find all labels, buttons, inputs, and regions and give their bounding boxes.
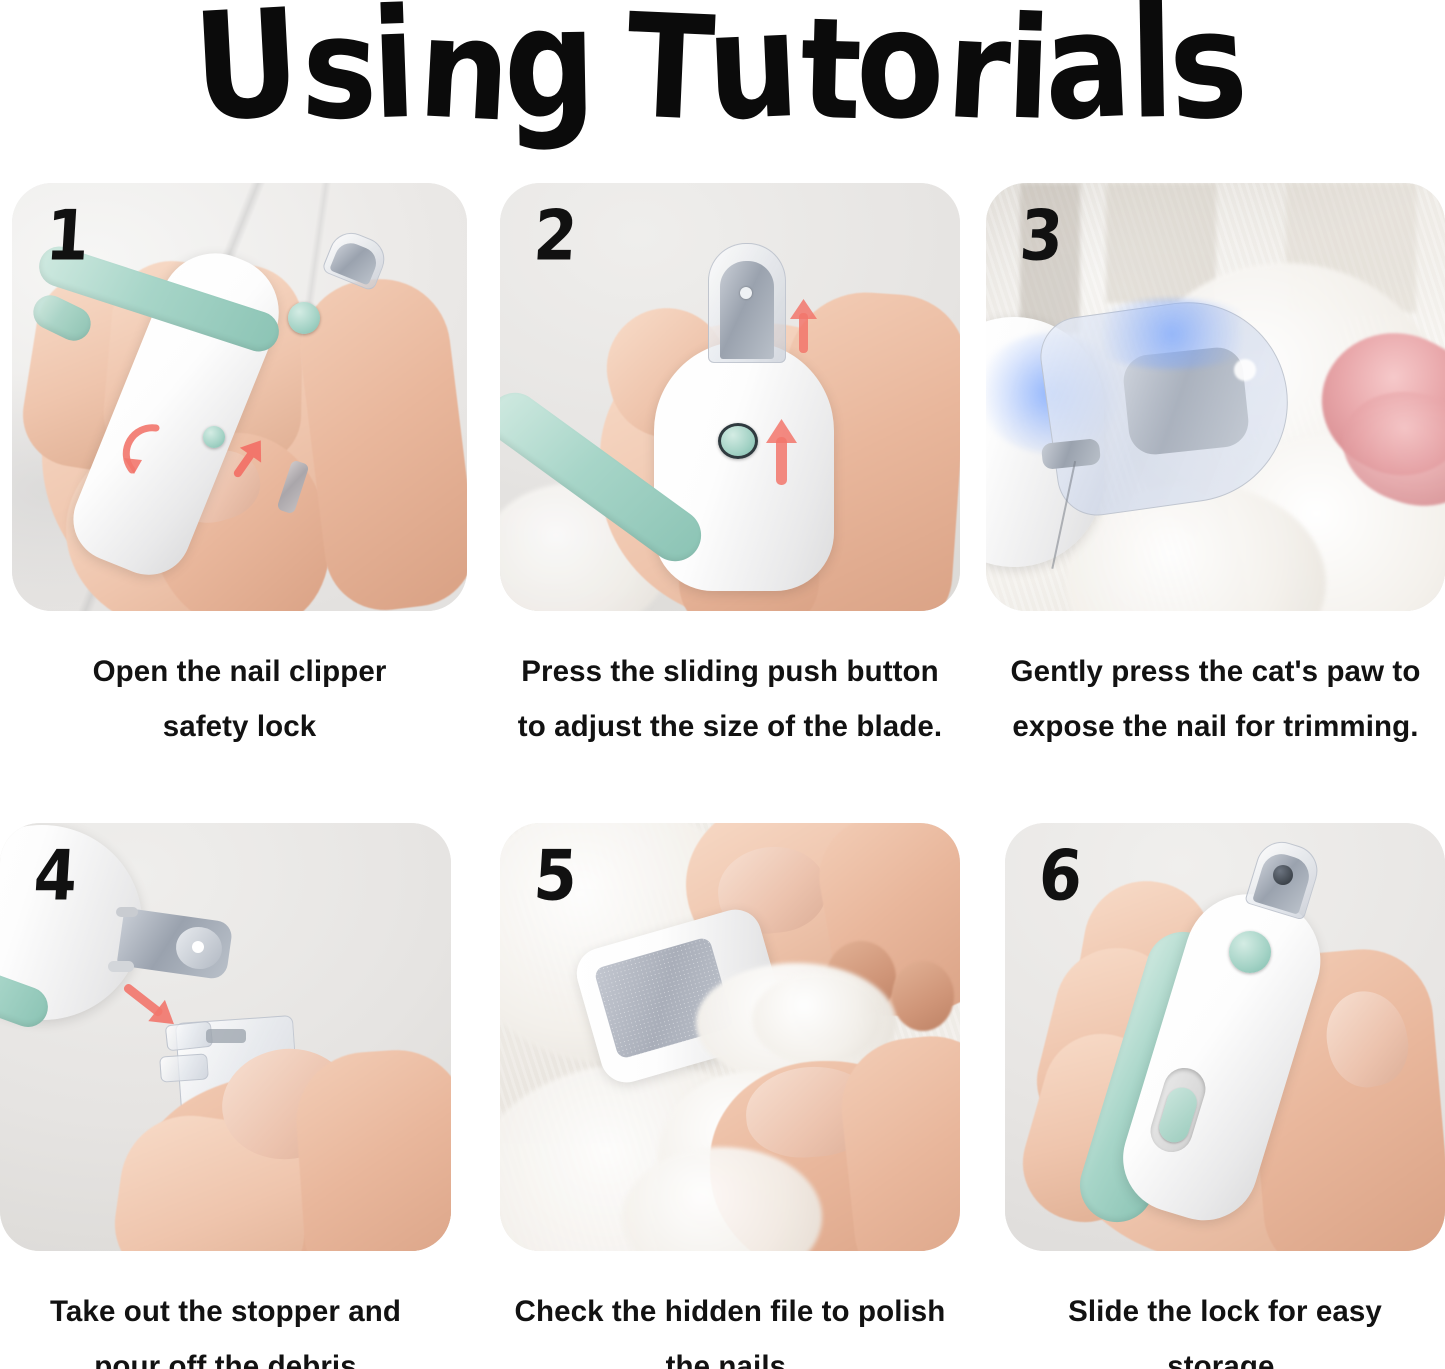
step-image-3: 3 bbox=[986, 183, 1445, 611]
step-image-5: 5 bbox=[500, 823, 960, 1251]
title-letter: t bbox=[798, 0, 861, 141]
title-letter: n bbox=[415, 0, 511, 142]
page-title-text: U s i n g T u t o r i a l s bbox=[198, 11, 1248, 139]
step-number: 3 bbox=[1018, 201, 1065, 270]
caption-line: safety lock bbox=[12, 700, 467, 755]
step-caption-1: Open the nail clipper safety lock bbox=[12, 645, 467, 754]
caption-line: Check the hidden file to polish bbox=[500, 1285, 960, 1340]
caption-line: Open the nail clipper bbox=[12, 645, 467, 700]
caption-line: Take out the stopper and bbox=[0, 1285, 451, 1340]
step-image-2: 2 bbox=[500, 183, 960, 611]
page-title: U s i n g T u t o r i a l s bbox=[0, 0, 1445, 150]
step-number: 4 bbox=[32, 841, 79, 910]
caption-line: to adjust the size of the blade. bbox=[500, 700, 960, 755]
step-card-4: 4 Take out the stopper and pour off the … bbox=[0, 823, 451, 1369]
caption-line: expose the nail for trimming. bbox=[986, 700, 1445, 755]
caption-line: the nails. bbox=[500, 1340, 960, 1369]
step-card-2: 2 Press the sliding push button to adjus… bbox=[500, 183, 960, 754]
title-letter: i bbox=[369, 0, 416, 142]
step-card-5: 5 Check the hidden file to polish the na… bbox=[500, 823, 960, 1369]
step-card-1: 1 Open the nail clipper safety lock bbox=[12, 183, 467, 754]
step-caption-3: Gently press the cat's paw to expose the… bbox=[986, 645, 1445, 754]
step-card-3: 3 Gently press the cat's paw to expose t… bbox=[986, 183, 1445, 754]
step-image-1: 1 bbox=[12, 183, 467, 611]
title-letter: r bbox=[943, 0, 1011, 141]
step-number: 1 bbox=[44, 201, 91, 270]
step-image-6: 6 bbox=[1005, 823, 1445, 1251]
tutorial-infographic: U s i n g T u t o r i a l s bbox=[0, 0, 1445, 1369]
step-caption-6: Slide the lock for easy storage. bbox=[1005, 1285, 1445, 1369]
step-number: 2 bbox=[532, 201, 579, 270]
step-card-6: 6 Slide the lock for easy storage. bbox=[1005, 823, 1445, 1369]
step-number: 6 bbox=[1037, 841, 1084, 910]
title-letter: a bbox=[1041, 0, 1132, 143]
title-letter: g bbox=[502, 0, 594, 142]
title-letter: u bbox=[704, 0, 799, 143]
title-letter: o bbox=[853, 0, 944, 143]
caption-line: Slide the lock for easy bbox=[1005, 1285, 1445, 1340]
title-letter: T bbox=[624, 0, 715, 142]
title-letter: s bbox=[299, 0, 378, 142]
step-caption-5: Check the hidden file to polish the nail… bbox=[500, 1285, 960, 1369]
step-number: 5 bbox=[532, 841, 579, 910]
caption-line: Gently press the cat's paw to bbox=[986, 645, 1445, 700]
caption-line: Press the sliding push button bbox=[500, 645, 960, 700]
steps-grid: 1 Open the nail clipper safety lock bbox=[0, 150, 1445, 1369]
step-image-4: 4 bbox=[0, 823, 451, 1251]
step-caption-4: Take out the stopper and pour off the de… bbox=[0, 1285, 451, 1369]
title-letter: s bbox=[1166, 0, 1249, 143]
caption-line: storage. bbox=[1005, 1340, 1445, 1369]
title-letter: U bbox=[190, 0, 302, 144]
step-caption-2: Press the sliding push button to adjust … bbox=[500, 645, 960, 754]
caption-line: pour off the debris bbox=[0, 1340, 451, 1369]
